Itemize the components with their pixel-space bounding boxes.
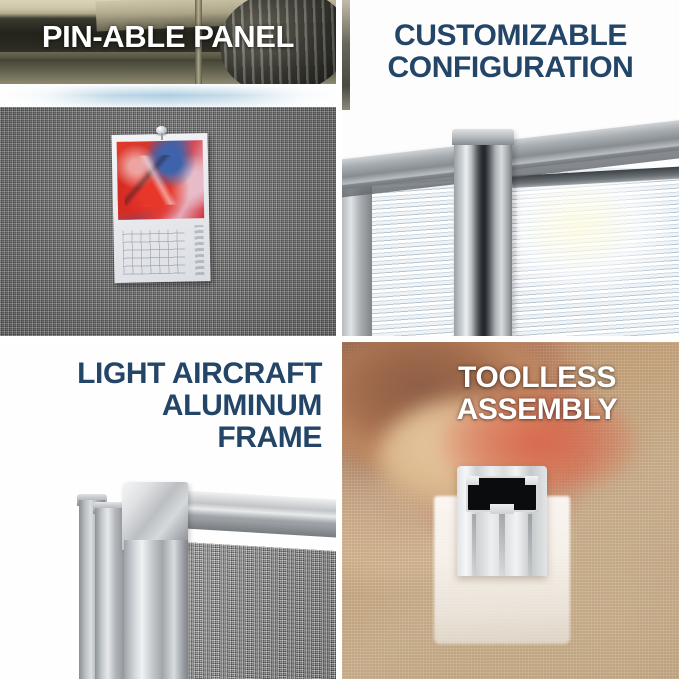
push-pin-icon	[156, 126, 167, 139]
panel-customizable-configuration[interactable]: CUSTOMIZABLE CONFIGURATION	[342, 0, 679, 336]
ceiling-pipe-icon	[195, 0, 202, 84]
extrusion-rib-left	[472, 514, 476, 576]
panel-light-aircraft-aluminum-frame[interactable]: LIGHT AIRCRAFT ALUMINUM FRAME	[0, 342, 336, 679]
calendar-date-grid	[122, 230, 185, 275]
aluminum-corner-post	[454, 133, 512, 336]
calendar-month-label	[194, 225, 204, 275]
post-end-cap	[452, 129, 514, 145]
gray-fabric-insert	[182, 542, 336, 679]
vertical-post-primary	[124, 540, 188, 679]
light-fixture-band	[0, 84, 336, 109]
extrusion-rib-middle	[499, 514, 505, 576]
adjacent-image-edge	[342, 0, 350, 110]
extrusion-channel-notch-left	[466, 476, 479, 485]
panel-toolless-assembly[interactable]: TOOLLESS ASSEMBLY	[342, 342, 679, 679]
panel-pin-able-panel[interactable]: PIN-ABLE PANEL	[0, 0, 336, 336]
calendar-artwork	[117, 140, 205, 220]
extrusion-channel-tab	[490, 504, 514, 514]
extrusion-channel-notch-right	[525, 476, 538, 485]
feature-grid: PIN-ABLE PANEL CUSTOMIZABLE CONFIGURATIO…	[0, 0, 679, 679]
extrusion-rib-right	[528, 514, 532, 576]
window-daylight-glow	[517, 178, 672, 298]
pinned-wall-calendar	[111, 133, 210, 283]
